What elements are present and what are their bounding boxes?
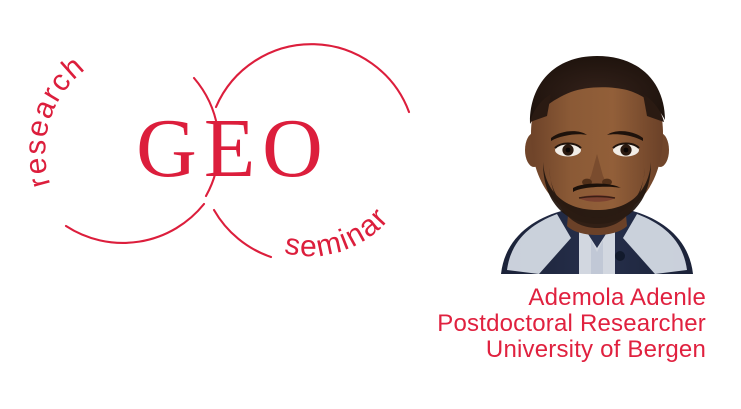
- speaker-role: Postdoctoral Researcher: [360, 312, 706, 336]
- logo-wordmark-geo: GEO: [136, 102, 330, 195]
- logo-arc-text-seminar: seminar: [282, 201, 395, 264]
- speaker-info: Ademola Adenle Postdoctoral Researcher U…: [360, 286, 706, 362]
- right-circle-arc-lower-left: [214, 210, 271, 257]
- speaker-name: Ademola Adenle: [360, 286, 706, 310]
- left-circle-arc-bottom: [66, 204, 204, 243]
- poster-canvas: research seminar GEO: [0, 0, 741, 409]
- logo-arc-text-research: research: [19, 49, 91, 191]
- speaker-photo: [487, 42, 707, 274]
- speaker-photo-svg: [487, 42, 707, 274]
- logo-svg: research seminar GEO: [18, 14, 448, 294]
- geo-research-seminar-logo: research seminar GEO: [18, 14, 448, 294]
- speaker-affiliation: University of Bergen: [360, 338, 706, 362]
